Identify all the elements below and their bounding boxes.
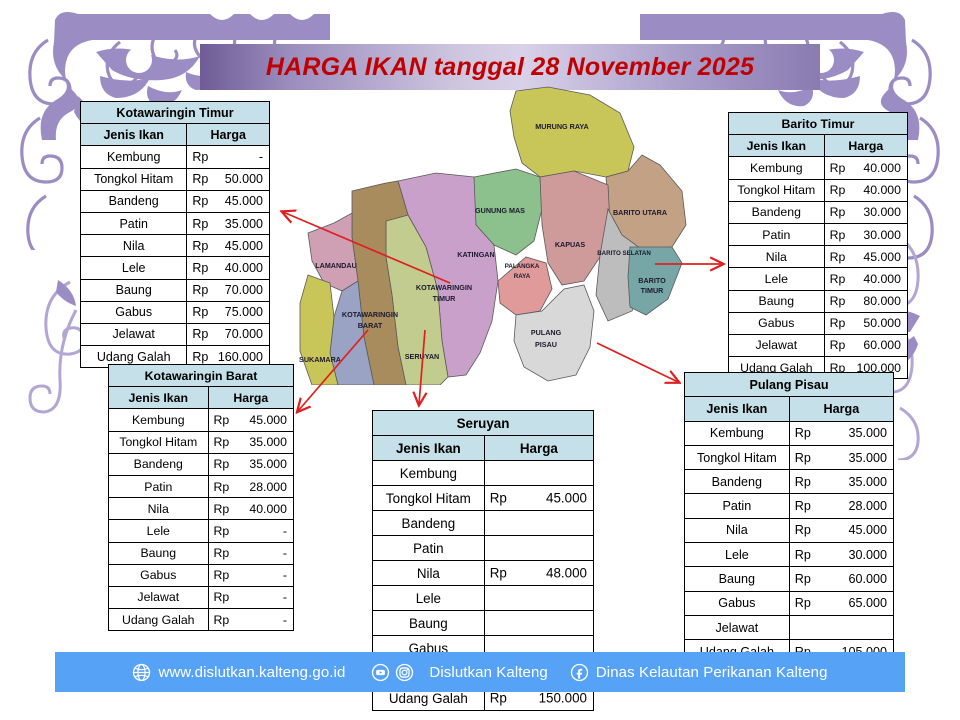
- cell-fish: Gabus: [685, 591, 790, 615]
- cell-price: Rp70.000: [187, 323, 270, 345]
- price-amount: 35.000: [249, 457, 287, 471]
- currency-prefix: Rp: [192, 172, 208, 186]
- cell-price: [789, 615, 893, 639]
- currency-prefix: Rp: [192, 150, 208, 164]
- table-row: BandengRp45.000: [81, 190, 270, 212]
- cell-fish: Tongkol Hitam: [109, 431, 209, 453]
- price-amount: 70.000: [225, 327, 263, 341]
- table-row: JelawatRp60.000: [729, 334, 908, 356]
- table-row: BandengRp30.000: [729, 201, 908, 223]
- table-row: BandengRp35.000: [109, 453, 294, 475]
- map-label-murung-raya: MURUNG RAYA: [535, 122, 588, 131]
- cell-price: Rp50.000: [187, 168, 270, 190]
- cell-fish: Patin: [109, 475, 209, 497]
- cell-price: Rp70.000: [187, 279, 270, 301]
- map-label-kotawaringin-barat-2: BARAT: [358, 321, 383, 330]
- currency-prefix: Rp: [192, 194, 208, 208]
- currency-prefix: Rp: [192, 239, 208, 253]
- table-caption: Kotawaringin Barat: [109, 365, 294, 387]
- table-caption: Pulang Pisau: [685, 373, 894, 397]
- cell-fish: Kembung: [109, 409, 209, 431]
- column-header-price: Harga: [187, 124, 270, 146]
- table-row: GabusRp75.000: [81, 301, 270, 323]
- table-row: PatinRp35.000: [81, 212, 270, 234]
- cell-fish: Lele: [81, 257, 187, 279]
- column-header-fish: Jenis Ikan: [685, 397, 790, 421]
- cell-price: Rp28.000: [789, 494, 893, 518]
- cell-fish: Baung: [81, 279, 187, 301]
- table-row: KembungRp-: [81, 146, 270, 168]
- map-label-katingan: KATINGAN: [457, 250, 494, 259]
- table-row: NilaRp40.000: [109, 498, 294, 520]
- facebook-icon[interactable]: [570, 663, 589, 682]
- cell-price: Rp40.000: [187, 257, 270, 279]
- currency-prefix: Rp: [795, 548, 811, 562]
- cell-fish: Bandeng: [81, 190, 187, 212]
- table-row: GabusRp50.000: [729, 312, 908, 334]
- cell-fish: Lele: [685, 543, 790, 567]
- currency-prefix: Rp: [214, 524, 230, 538]
- map-label-pulang-pisau-2: PISAU: [535, 340, 557, 349]
- price-amount: 45.000: [546, 491, 587, 506]
- table-row: NilaRp45.000: [81, 235, 270, 257]
- cell-price: [484, 511, 593, 536]
- column-header-price: Harga: [824, 135, 907, 157]
- table-row: NilaRp48.000: [373, 561, 594, 586]
- table-row: Jelawat: [685, 615, 894, 639]
- cell-fish: Nila: [729, 246, 825, 268]
- cell-price: Rp35.000: [208, 453, 293, 475]
- cell-price: [484, 536, 593, 561]
- map-region-sukamara: [300, 275, 338, 385]
- price-amount: 30.000: [863, 205, 901, 219]
- instagram-icon[interactable]: [395, 663, 414, 682]
- table-row: PatinRp28.000: [109, 475, 294, 497]
- cell-price: Rp-: [208, 564, 293, 586]
- currency-prefix: Rp: [795, 523, 811, 537]
- price-amount: 45.000: [225, 239, 263, 253]
- table-row: Tongkol HitamRp40.000: [729, 179, 908, 201]
- cell-price: Rp28.000: [208, 475, 293, 497]
- footer-website[interactable]: www.dislutkan.kalteng.go.id: [132, 663, 345, 682]
- table-row: Udang GalahRp-: [109, 609, 294, 631]
- price-amount: 60.000: [863, 338, 901, 352]
- table-row: Lele: [373, 586, 594, 611]
- price-amount: 50.000: [863, 316, 901, 330]
- price-amount: 28.000: [249, 480, 287, 494]
- table-row: PatinRp28.000: [685, 494, 894, 518]
- price-amount: 160.000: [218, 350, 263, 364]
- cell-price: Rp40.000: [824, 179, 907, 201]
- cell-price: Rp75.000: [187, 301, 270, 323]
- map-label-kotawaringin-barat: KOTAWARINGIN: [342, 310, 398, 319]
- cell-fish: Bandeng: [685, 470, 790, 494]
- cell-price: Rp40.000: [824, 268, 907, 290]
- cell-price: Rp30.000: [824, 223, 907, 245]
- cell-price: Rp60.000: [824, 334, 907, 356]
- table-row: LeleRp40.000: [729, 268, 908, 290]
- poster-canvas: HARGA IKAN tanggal 28 November 2025: [0, 0, 960, 720]
- currency-prefix: Rp: [830, 205, 846, 219]
- price-amount: -: [283, 546, 287, 560]
- cell-fish: Jelawat: [109, 586, 209, 608]
- cell-fish: Jelawat: [685, 615, 790, 639]
- currency-prefix: Rp: [214, 457, 230, 471]
- price-amount: -: [283, 524, 287, 538]
- footer-bar: www.dislutkan.kalteng.go.id Dislutka: [55, 652, 905, 692]
- cell-price: [484, 461, 593, 486]
- cell-fish: Baung: [685, 567, 790, 591]
- map-region-murung-raya: [510, 87, 634, 177]
- footer-website-label: www.dislutkan.kalteng.go.id: [158, 664, 345, 681]
- map-label-kotawaringin-timur: KOTAWARINGIN: [416, 283, 472, 292]
- currency-prefix: Rp: [795, 475, 811, 489]
- price-amount: -: [259, 150, 263, 164]
- price-amount: 70.000: [225, 283, 263, 297]
- cell-price: Rp35.000: [789, 445, 893, 469]
- cell-fish: Udang Galah: [109, 609, 209, 631]
- currency-prefix: Rp: [192, 283, 208, 297]
- map-label-barito-selatan: BARITO SELATAN: [597, 250, 651, 257]
- cell-price: Rp48.000: [484, 561, 593, 586]
- map-label-seruyan: SERUYAN: [405, 352, 439, 361]
- price-amount: 45.000: [225, 194, 263, 208]
- currency-prefix: Rp: [830, 338, 846, 352]
- cell-fish: Lele: [373, 586, 485, 611]
- price-amount: 40.000: [863, 161, 901, 175]
- price-table-kotawaringin-timur: Kotawaringin Timur Jenis Ikan Harga Kemb…: [80, 101, 270, 368]
- currency-prefix: Rp: [490, 691, 507, 706]
- map-label-palangka-raya: PALANGKA: [505, 263, 540, 270]
- map-label-pulang-pisau: PULANG: [531, 328, 562, 337]
- cell-fish: Lele: [729, 268, 825, 290]
- table-row: BandengRp35.000: [685, 470, 894, 494]
- cell-fish: Bandeng: [729, 201, 825, 223]
- cell-fish: Patin: [373, 536, 485, 561]
- cell-fish: Patin: [81, 212, 187, 234]
- currency-prefix: Rp: [214, 546, 230, 560]
- table-row: BaungRp70.000: [81, 279, 270, 301]
- currency-prefix: Rp: [795, 426, 811, 440]
- footer-social-label: Dislutkan Kalteng: [429, 664, 547, 681]
- currency-prefix: Rp: [214, 613, 230, 627]
- cell-price: Rp45.000: [187, 235, 270, 257]
- cell-fish: Bandeng: [109, 453, 209, 475]
- price-amount: 35.000: [848, 475, 887, 489]
- table-row: Baung: [373, 611, 594, 636]
- map-label-lamandau: LAMANDAU: [315, 261, 357, 270]
- currency-prefix: Rp: [192, 305, 208, 319]
- currency-prefix: Rp: [214, 568, 230, 582]
- cell-price: Rp30.000: [824, 201, 907, 223]
- map-label-kotawaringin-timur-2: TIMUR: [433, 294, 457, 303]
- cell-fish: Gabus: [81, 301, 187, 323]
- currency-prefix: Rp: [795, 596, 811, 610]
- cell-price: [484, 611, 593, 636]
- cell-fish: Baung: [109, 542, 209, 564]
- currency-prefix: Rp: [830, 316, 846, 330]
- currency-prefix: Rp: [830, 250, 846, 264]
- table-row: GabusRp65.000: [685, 591, 894, 615]
- page-title: HARGA IKAN tanggal 28 November 2025: [266, 53, 754, 82]
- map-label-gunung-mas: GUNUNG MAS: [475, 206, 525, 215]
- title-banner: HARGA IKAN tanggal 28 November 2025: [200, 44, 820, 90]
- currency-prefix: Rp: [214, 435, 230, 449]
- price-amount: 35.000: [848, 426, 887, 440]
- table-row: Tongkol HitamRp35.000: [685, 445, 894, 469]
- cell-fish: Kembung: [373, 461, 485, 486]
- cell-fish: Nila: [685, 518, 790, 542]
- price-amount: 35.000: [249, 435, 287, 449]
- column-header-fish: Jenis Ikan: [373, 436, 485, 461]
- table-row: Patin: [373, 536, 594, 561]
- price-amount: 45.000: [249, 413, 287, 427]
- currency-prefix: Rp: [830, 228, 846, 242]
- cell-price: [484, 586, 593, 611]
- currency-prefix: Rp: [795, 499, 811, 513]
- cell-price: Rp35.000: [187, 212, 270, 234]
- currency-prefix: Rp: [214, 413, 230, 427]
- cell-price: Rp-: [208, 609, 293, 631]
- price-amount: 50.000: [225, 172, 263, 186]
- price-amount: 75.000: [225, 305, 263, 319]
- column-header-price: Harga: [208, 387, 293, 409]
- table-row: PatinRp30.000: [729, 223, 908, 245]
- cell-fish: Nila: [109, 498, 209, 520]
- cell-price: Rp80.000: [824, 290, 907, 312]
- price-amount: 30.000: [863, 228, 901, 242]
- cell-fish: Gabus: [109, 564, 209, 586]
- price-amount: 35.000: [225, 217, 263, 231]
- map-label-barito-utara: BARITO UTARA: [613, 208, 667, 217]
- kalimantan-tengah-map: MURUNG RAYA GUNUNG MAS BARITO UTARA KAPU…: [290, 85, 690, 385]
- price-amount: 28.000: [848, 499, 887, 513]
- currency-prefix: Rp: [830, 294, 846, 308]
- currency-prefix: Rp: [795, 572, 811, 586]
- price-amount: 40.000: [249, 502, 287, 516]
- table-row: GabusRp-: [109, 564, 294, 586]
- cell-fish: Jelawat: [729, 334, 825, 356]
- cell-price: Rp65.000: [789, 591, 893, 615]
- table-row: LeleRp40.000: [81, 257, 270, 279]
- cell-fish: Bandeng: [373, 511, 485, 536]
- table-row: NilaRp45.000: [685, 518, 894, 542]
- map-label-barito-timur: BARITO: [638, 276, 666, 285]
- cell-fish: Patin: [685, 494, 790, 518]
- table-row: Tongkol HitamRp50.000: [81, 168, 270, 190]
- cell-fish: Lele: [109, 520, 209, 542]
- currency-prefix: Rp: [192, 217, 208, 231]
- table-row: KembungRp40.000: [729, 157, 908, 179]
- cell-price: Rp-: [208, 542, 293, 564]
- currency-prefix: Rp: [214, 590, 230, 604]
- table-row: JelawatRp-: [109, 586, 294, 608]
- table-row: KembungRp35.000: [685, 421, 894, 445]
- cell-fish: Patin: [729, 223, 825, 245]
- currency-prefix: Rp: [214, 502, 230, 516]
- cell-price: Rp60.000: [789, 567, 893, 591]
- price-table-barito-timur: Barito Timur Jenis Ikan Harga KembungRp4…: [728, 112, 908, 379]
- column-header-fish: Jenis Ikan: [109, 387, 209, 409]
- table-row: Kembung: [373, 461, 594, 486]
- cell-fish: Tongkol Hitam: [729, 179, 825, 201]
- currency-prefix: Rp: [192, 327, 208, 341]
- cell-fish: Baung: [729, 290, 825, 312]
- table-row: Tongkol HitamRp45.000: [373, 486, 594, 511]
- price-amount: 80.000: [863, 294, 901, 308]
- cell-price: Rp50.000: [824, 312, 907, 334]
- cell-price: Rp-: [187, 146, 270, 168]
- currency-prefix: Rp: [795, 451, 811, 465]
- price-amount: 45.000: [848, 523, 887, 537]
- cell-fish: Kembung: [81, 146, 187, 168]
- cell-fish: Tongkol Hitam: [685, 445, 790, 469]
- currency-prefix: Rp: [830, 272, 846, 286]
- currency-prefix: Rp: [192, 350, 208, 364]
- currency-prefix: Rp: [214, 480, 230, 494]
- cell-fish: Nila: [81, 235, 187, 257]
- cell-fish: Kembung: [729, 157, 825, 179]
- price-table-kotawaringin-barat: Kotawaringin Barat Jenis Ikan Harga Kemb…: [108, 364, 294, 631]
- map-label-sukamara: SUKAMARA: [299, 355, 341, 364]
- map-label-kapuas: KAPUAS: [555, 240, 586, 249]
- column-header-fish: Jenis Ikan: [729, 135, 825, 157]
- youtube-icon[interactable]: [371, 663, 390, 682]
- cell-price: Rp-: [208, 586, 293, 608]
- table-row: Bandeng: [373, 511, 594, 536]
- price-amount: 150.000: [539, 691, 587, 706]
- price-amount: 45.000: [863, 250, 901, 264]
- cell-fish: Jelawat: [81, 323, 187, 345]
- table-caption: Seruyan: [373, 411, 594, 436]
- currency-prefix: Rp: [490, 491, 507, 506]
- map-label-palangka-raya-2: RAYA: [514, 273, 531, 280]
- cell-price: Rp35.000: [208, 431, 293, 453]
- cell-price: Rp40.000: [824, 157, 907, 179]
- map-label-barito-timur-2: TIMUR: [641, 286, 665, 295]
- price-amount: 40.000: [863, 183, 901, 197]
- cell-price: Rp35.000: [789, 470, 893, 494]
- currency-prefix: Rp: [830, 161, 846, 175]
- footer-social[interactable]: Dislutkan Kalteng: [371, 663, 547, 682]
- table-row: NilaRp45.000: [729, 246, 908, 268]
- cell-fish: Tongkol Hitam: [373, 486, 485, 511]
- table-row: LeleRp-: [109, 520, 294, 542]
- footer-facebook-label: Dinas Kelautan Perikanan Kalteng: [596, 664, 828, 681]
- table-row: BaungRp-: [109, 542, 294, 564]
- price-amount: 48.000: [546, 566, 587, 581]
- cell-price: Rp45.000: [187, 190, 270, 212]
- column-header-fish: Jenis Ikan: [81, 124, 187, 146]
- table-row: BaungRp80.000: [729, 290, 908, 312]
- table-row: Tongkol HitamRp35.000: [109, 431, 294, 453]
- cell-price: Rp-: [208, 520, 293, 542]
- price-amount: 35.000: [848, 451, 887, 465]
- price-amount: -: [283, 613, 287, 627]
- table-caption: Kotawaringin Timur: [81, 102, 270, 124]
- price-amount: 30.000: [848, 548, 887, 562]
- currency-prefix: Rp: [490, 566, 507, 581]
- price-table-pulang-pisau: Pulang Pisau Jenis Ikan Harga KembungRp3…: [684, 372, 894, 665]
- table-row: BaungRp60.000: [685, 567, 894, 591]
- cell-fish: Nila: [373, 561, 485, 586]
- price-amount: 60.000: [848, 572, 887, 586]
- cell-fish: Tongkol Hitam: [81, 168, 187, 190]
- column-header-price: Harga: [789, 397, 893, 421]
- cell-price: Rp30.000: [789, 543, 893, 567]
- cell-price: Rp45.000: [484, 486, 593, 511]
- table-row: LeleRp30.000: [685, 543, 894, 567]
- cell-price: Rp40.000: [208, 498, 293, 520]
- currency-prefix: Rp: [830, 183, 846, 197]
- table-row: KembungRp45.000: [109, 409, 294, 431]
- cell-fish: Gabus: [729, 312, 825, 334]
- price-amount: -: [283, 590, 287, 604]
- cell-fish: Baung: [373, 611, 485, 636]
- globe-icon: [132, 663, 151, 682]
- price-amount: -: [283, 568, 287, 582]
- currency-prefix: Rp: [192, 261, 208, 275]
- cell-price: Rp45.000: [789, 518, 893, 542]
- table-caption: Barito Timur: [729, 113, 908, 135]
- footer-facebook[interactable]: Dinas Kelautan Perikanan Kalteng: [570, 663, 828, 682]
- cell-fish: Kembung: [685, 421, 790, 445]
- price-amount: 65.000: [848, 596, 887, 610]
- cell-price: Rp45.000: [208, 409, 293, 431]
- table-row: JelawatRp70.000: [81, 323, 270, 345]
- price-amount: 40.000: [225, 261, 263, 275]
- column-header-price: Harga: [484, 436, 593, 461]
- price-amount: 40.000: [863, 272, 901, 286]
- cell-price: Rp35.000: [789, 421, 893, 445]
- cell-price: Rp45.000: [824, 246, 907, 268]
